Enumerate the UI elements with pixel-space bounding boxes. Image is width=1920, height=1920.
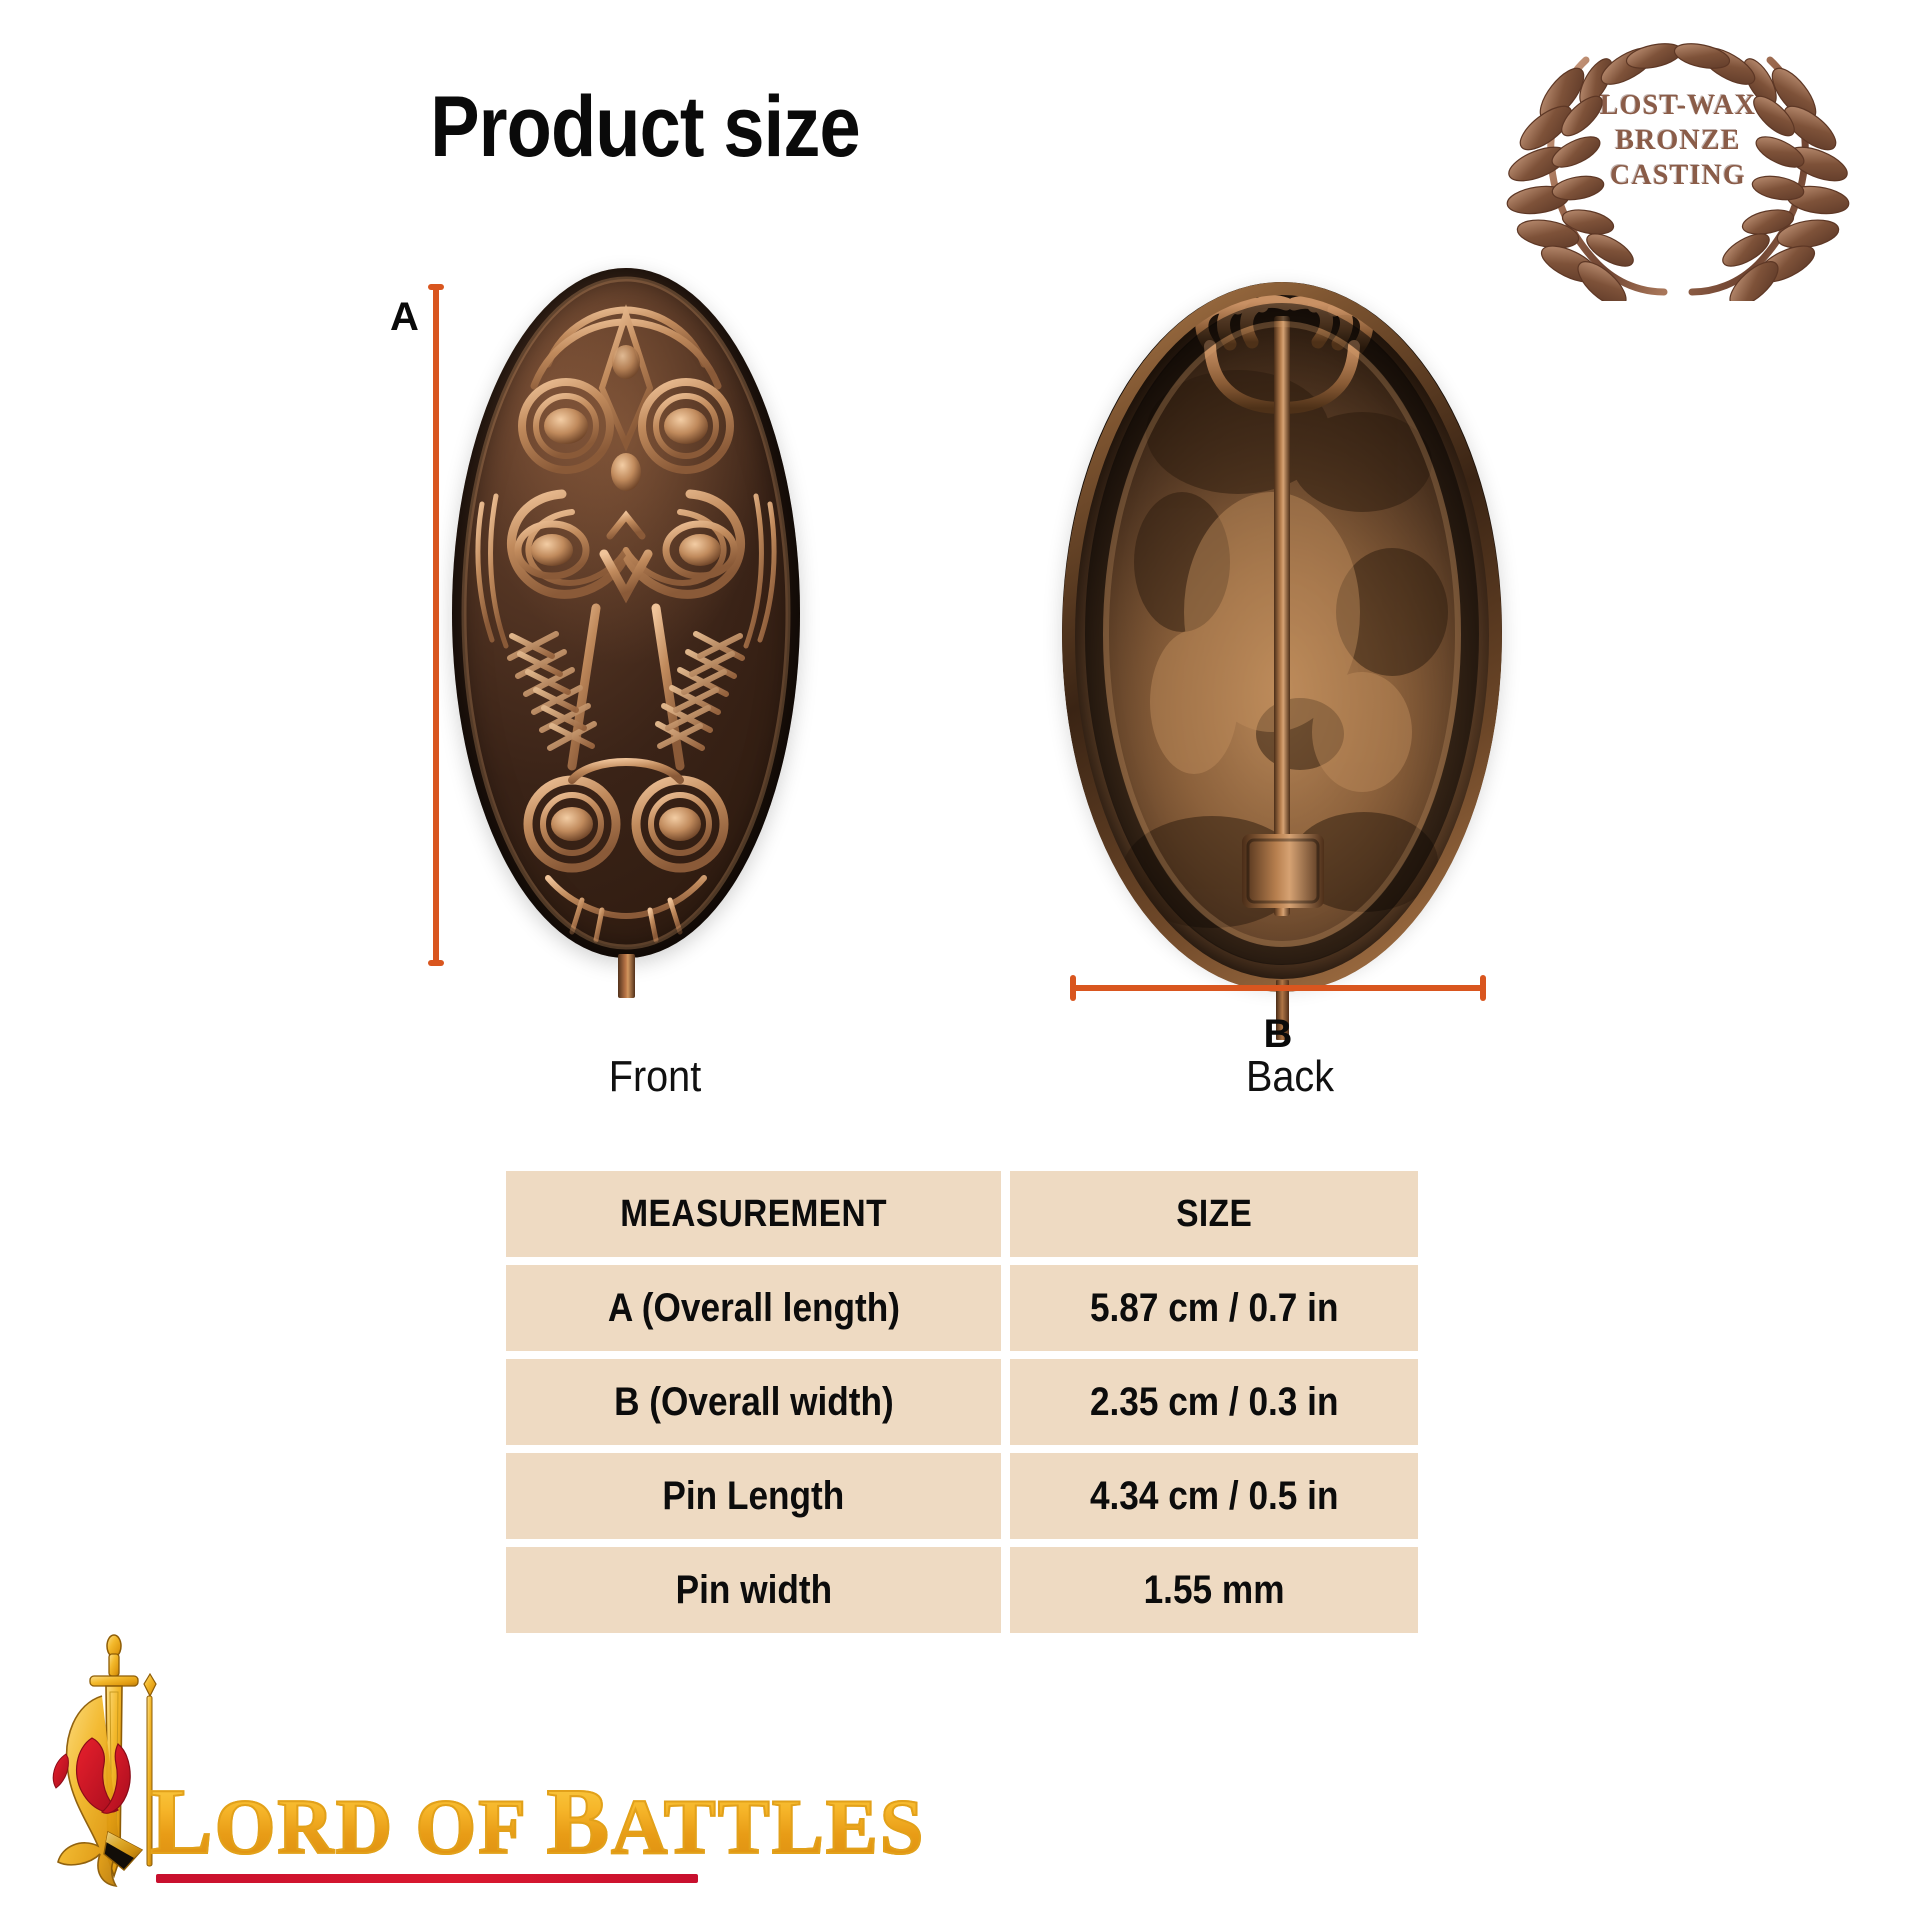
badge-line-2: BRONZE xyxy=(1478,123,1878,158)
brooch-back-shell xyxy=(1062,282,1502,982)
badge-line-1: LOST-WAX xyxy=(1478,88,1878,123)
badge-text-block: LOST-WAX BRONZE CASTING xyxy=(1478,88,1878,193)
table-cell-measurement: A (Overall length) xyxy=(506,1265,1001,1351)
knotwork-pattern-icon xyxy=(452,268,800,958)
product-back-view xyxy=(1062,282,1502,992)
dimension-a-cap-bottom xyxy=(428,960,444,966)
dimension-label-b: B xyxy=(1062,1012,1494,1057)
pin-mechanism-icon xyxy=(1062,282,1502,982)
table-row: Pin width 1.55 mm xyxy=(506,1547,1418,1633)
table-cell-measurement: Pin width xyxy=(506,1547,1001,1633)
table-header-row: MEASUREMENT SIZE xyxy=(506,1171,1418,1257)
dimension-a-bar xyxy=(433,284,439,966)
table-cell-size: 4.34 cm / 0.5 in xyxy=(1010,1453,1418,1539)
table-row: Pin Length 4.34 cm / 0.5 in xyxy=(506,1453,1418,1539)
caption-front: Front xyxy=(552,1052,759,1102)
brand-wordmark: Lord of Battles xyxy=(150,1768,925,1876)
table-header-size: SIZE xyxy=(1010,1171,1418,1257)
table-cell-size: 1.55 mm xyxy=(1010,1547,1418,1633)
table-cell-size: 2.35 cm / 0.3 in xyxy=(1010,1359,1418,1445)
dimension-b-cap-right xyxy=(1480,975,1486,1001)
pin-tip-front xyxy=(618,954,635,998)
dimension-b-bar xyxy=(1070,985,1486,991)
lost-wax-bronze-casting-badge: LOST-WAX BRONZE CASTING xyxy=(1478,16,1878,301)
table-row: A (Overall length) 5.87 cm / 0.7 in xyxy=(506,1265,1418,1351)
dimension-line-a xyxy=(428,284,442,966)
table-row: B (Overall width) 2.35 cm / 0.3 in xyxy=(506,1359,1418,1445)
table-header-measurement: MEASUREMENT xyxy=(506,1171,1001,1257)
brand-underline-rule xyxy=(156,1874,698,1883)
brooch-front-oval xyxy=(452,268,800,958)
dimension-label-a: A xyxy=(390,295,419,340)
caption-back: Back xyxy=(1191,1052,1389,1102)
page-title: Product size xyxy=(90,78,1199,177)
table-cell-measurement: B (Overall width) xyxy=(506,1359,1001,1445)
measurement-table: MEASUREMENT SIZE A (Overall length) 5.87… xyxy=(497,1163,1427,1641)
infographic-canvas: Product size xyxy=(0,0,1920,1920)
table-cell-measurement: Pin Length xyxy=(506,1453,1001,1539)
dimension-line-b xyxy=(1070,972,1486,1004)
table-cell-size: 5.87 cm / 0.7 in xyxy=(1010,1265,1418,1351)
product-front-view xyxy=(452,268,800,968)
badge-line-3: CASTING xyxy=(1478,158,1878,193)
brand-logo: Lord of Battles xyxy=(28,1628,728,1908)
